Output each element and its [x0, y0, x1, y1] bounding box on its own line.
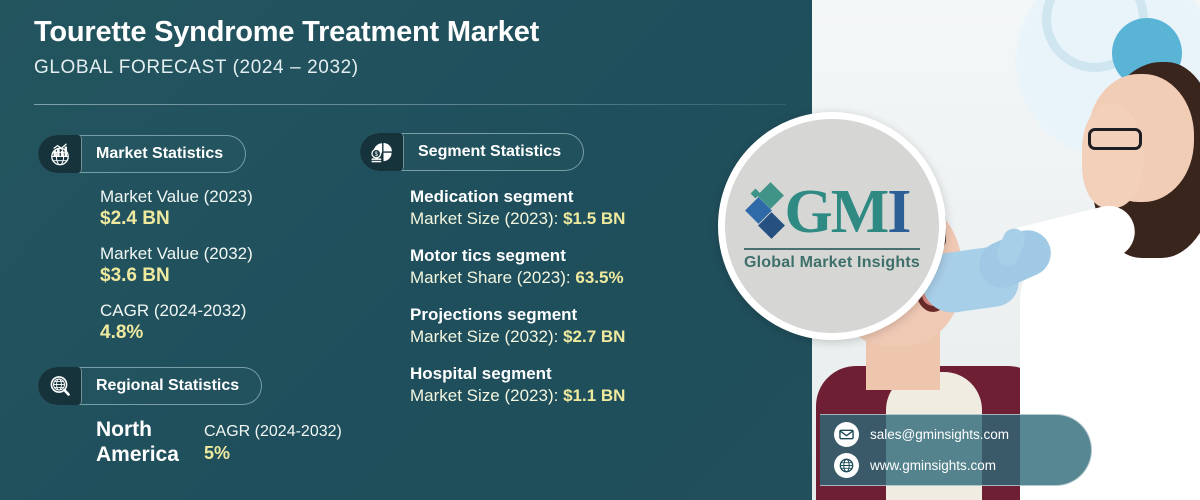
logo-letter-i: I	[887, 178, 909, 246]
market-stat-label: Market Value (2032)	[100, 243, 253, 264]
segment-name: Hospital segment	[410, 363, 625, 385]
page-subtitle: GLOBAL FORECAST (2024 – 2032)	[34, 57, 784, 79]
globe-bar-chart-icon	[38, 135, 82, 173]
contact-website: www.gminsights.com	[870, 458, 996, 473]
segment-metric-value: 63.5%	[575, 268, 623, 287]
contact-website-row[interactable]: www.gminsights.com	[834, 453, 1091, 478]
globe-magnifier-icon	[38, 367, 82, 405]
region-cagr-value: 5%	[204, 442, 342, 465]
segment-metric-label: Market Size (2023):	[410, 209, 558, 228]
header-divider	[34, 104, 786, 105]
segment-statistics-header: $ Segment Statistics	[360, 133, 584, 171]
contact-email-row[interactable]: sales@gminsights.com	[834, 422, 1091, 447]
segment-metric-line: Market Size (2023): $1.1 BN	[410, 385, 625, 408]
logo-rule	[744, 248, 920, 250]
segment-row: Medication segment Market Size (2023): $…	[410, 186, 625, 231]
segment-row: Projections segment Market Size (2032): …	[410, 304, 625, 349]
doctor-face	[1082, 104, 1144, 208]
segment-metric-value: $1.5 BN	[563, 209, 625, 228]
segment-metric-label: Market Size (2032):	[410, 327, 558, 346]
doctor-glasses	[1088, 128, 1142, 150]
regional-statistics-list: North America CAGR (2024-2032) 5%	[96, 418, 342, 468]
market-stat-label: CAGR (2024-2032)	[100, 300, 253, 321]
logo-tagline: Global Market Insights	[744, 254, 920, 272]
market-stat-value: $2.4 BN	[100, 207, 253, 232]
market-statistics-list: Market Value (2023) $2.4 BN Market Value…	[100, 186, 253, 357]
contact-email: sales@gminsights.com	[870, 427, 1009, 442]
contact-box: sales@gminsights.com www.gminsights.com	[820, 414, 1092, 486]
market-stat-row: Market Value (2023) $2.4 BN	[100, 186, 253, 232]
regional-statistics-label: Regional Statistics	[96, 377, 239, 395]
segment-statistics-list: Medication segment Market Size (2023): $…	[410, 186, 625, 422]
segment-name: Projections segment	[410, 304, 625, 326]
pie-chart-dollar-icon: $	[360, 133, 404, 171]
market-stat-value: 4.8%	[100, 321, 253, 346]
segment-row: Hospital segment Market Size (2023): $1.…	[410, 363, 625, 408]
segment-name: Medication segment	[410, 186, 625, 208]
market-statistics-label: Market Statistics	[96, 145, 223, 163]
segment-metric-line: Market Size (2023): $1.5 BN	[410, 208, 625, 231]
gmi-logo-badge: GMI Global Market Insights	[718, 112, 946, 340]
segment-metric-line: Market Share (2023): 63.5%	[410, 267, 625, 290]
market-stat-value: $3.6 BN	[100, 264, 253, 289]
market-stat-row: Market Value (2032) $3.6 BN	[100, 243, 253, 289]
segment-metric-value: $1.1 BN	[563, 386, 625, 405]
gmi-logo-mark: GMI	[749, 181, 910, 243]
region-cagr-label: CAGR (2024-2032)	[204, 422, 342, 442]
content-panel: Tourette Syndrome Treatment Market GLOBA…	[0, 0, 812, 500]
diamonds-icon	[749, 184, 783, 240]
header: Tourette Syndrome Treatment Market GLOBA…	[34, 16, 784, 79]
segment-metric-label: Market Size (2023):	[410, 386, 558, 405]
segment-row: Motor tics segment Market Share (2023): …	[410, 245, 625, 290]
market-stat-row: CAGR (2024-2032) 4.8%	[100, 300, 253, 346]
segment-metric-value: $2.7 BN	[563, 327, 625, 346]
infographic-root: Tourette Syndrome Treatment Market GLOBA…	[0, 0, 1200, 500]
envelope-icon	[834, 422, 859, 447]
page-title: Tourette Syndrome Treatment Market	[34, 16, 784, 49]
segment-metric-label: Market Share (2023):	[410, 268, 571, 287]
segment-statistics-label: Segment Statistics	[418, 143, 561, 161]
region-cagr-block: CAGR (2024-2032) 5%	[204, 418, 342, 465]
globe-icon	[834, 453, 859, 478]
segment-metric-line: Market Size (2032): $2.7 BN	[410, 326, 625, 349]
regional-statistics-header: Regional Statistics	[38, 367, 262, 405]
logo-letters-gm: GM	[785, 178, 888, 246]
market-stat-label: Market Value (2023)	[100, 186, 253, 207]
region-name: North America	[96, 418, 204, 468]
segment-name: Motor tics segment	[410, 245, 625, 267]
market-statistics-header: Market Statistics	[38, 135, 246, 173]
